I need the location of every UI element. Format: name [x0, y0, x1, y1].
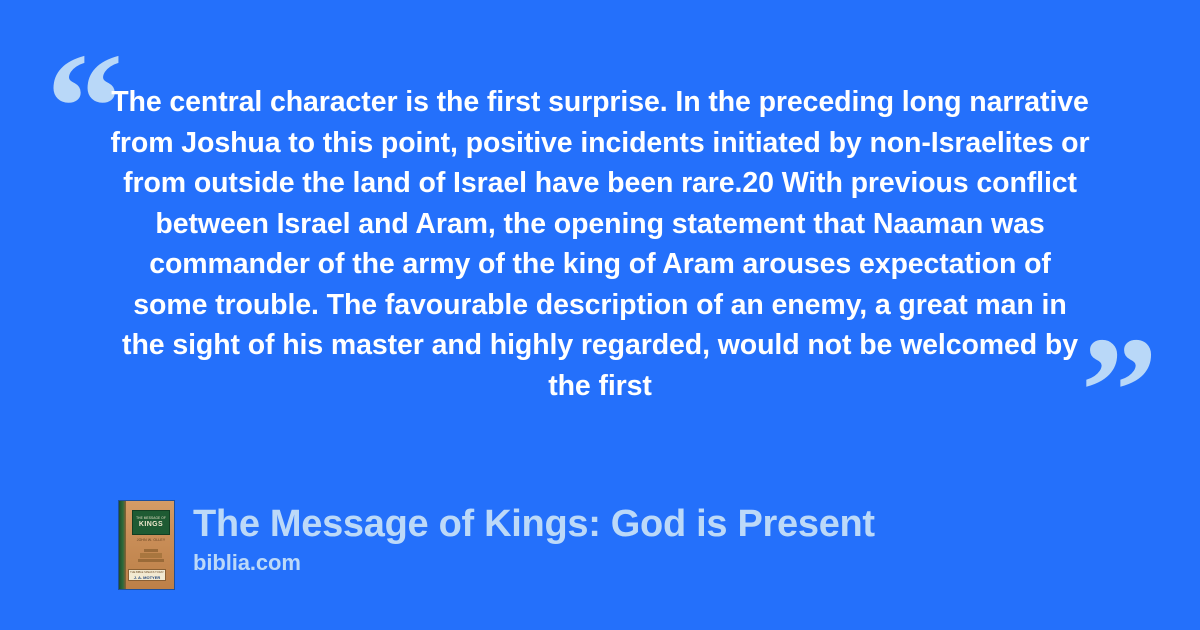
book-cover-thumbnail: THE MESSAGE OF KINGS JOHN W. OLLEY THE B…	[118, 500, 175, 590]
closing-quote-icon: ”	[1081, 314, 1159, 469]
book-spine	[119, 501, 126, 589]
quote-block: “ The central character is the first sur…	[0, 46, 1200, 426]
book-cover-author-top: JOHN W. OLLEY	[132, 538, 170, 542]
attribution-footer: THE MESSAGE OF KINGS JOHN W. OLLEY THE B…	[118, 500, 875, 590]
footer-text-group: The Message of Kings: God is Present bib…	[193, 500, 875, 577]
book-cover-emblem-icon	[138, 549, 164, 563]
book-cover-title-box: THE MESSAGE OF KINGS	[132, 510, 170, 535]
book-cover-editor-name: J. A. MOTYER	[134, 575, 161, 580]
book-cover-title-label: KINGS	[139, 521, 163, 529]
site-attribution: biblia.com	[193, 549, 875, 577]
book-title: The Message of Kings: God is Present	[193, 501, 875, 547]
quote-text: The central character is the first surpr…	[110, 82, 1090, 406]
quote-card: “ The central character is the first sur…	[0, 0, 1200, 630]
book-cover-author-bar: THE BIBLE SPEAKS TODAY J. A. MOTYER	[128, 569, 166, 581]
